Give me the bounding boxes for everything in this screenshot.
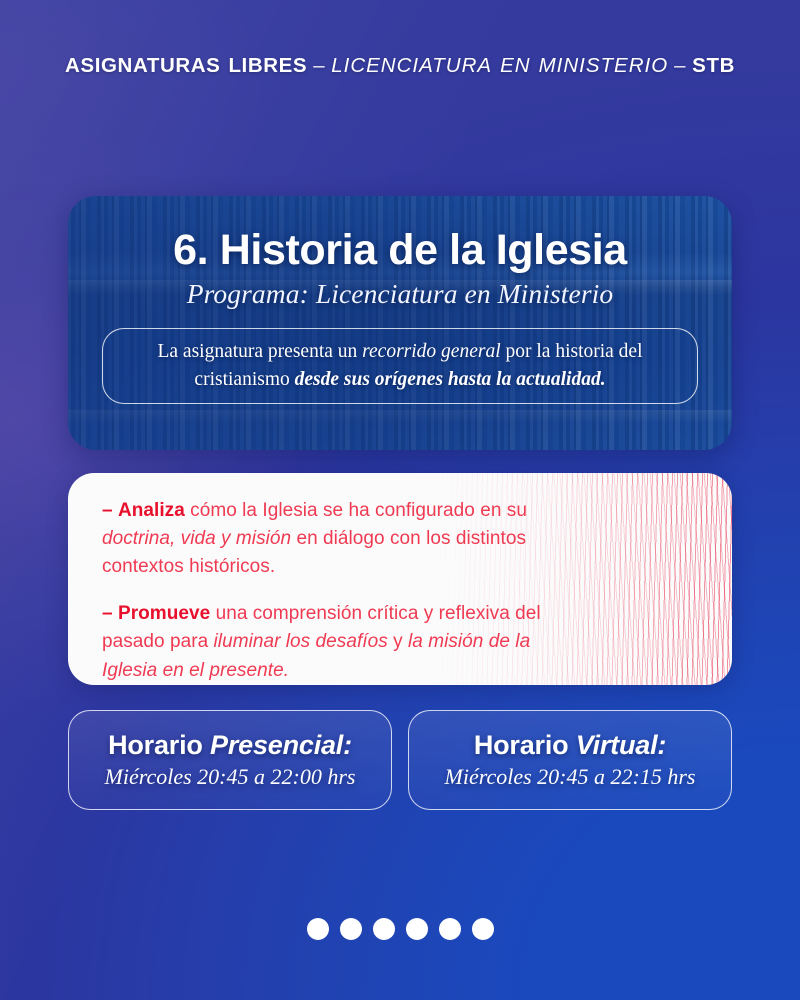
schedule-presencial-time: Miércoles 20:45 a 22:00 hrs: [105, 764, 356, 790]
objective-1-segment-italic: doctrina, vida y misión: [102, 528, 291, 549]
course-program-subtitle: Programa: Licenciatura en Ministerio: [187, 278, 614, 310]
description-segment-1: La asignatura presenta un: [157, 341, 362, 362]
header-separator-2: –: [668, 54, 692, 77]
pagination-dot[interactable]: [472, 918, 494, 940]
pagination-dot[interactable]: [307, 918, 329, 940]
slide-header: ASIGNATURASLIBRES–LICENCIATURAENMINISTER…: [0, 54, 800, 78]
header-part-ministerio: MINISTERIO: [539, 54, 669, 77]
schedule-card-virtual: Horario Virtual: Miércoles 20:45 a 22:15…: [408, 710, 732, 810]
header-separator-1: –: [307, 54, 331, 77]
header-part-libres: LIBRES: [228, 54, 307, 77]
header-part-asignaturas: ASIGNATURAS: [65, 54, 220, 77]
objective-1-segment-1: cómo la Iglesia se ha configurado en su: [185, 500, 527, 521]
objective-item-promueve: – Promueve una comprensión crítica y ref…: [102, 600, 582, 684]
schedule-card-presencial: Horario Presencial: Miércoles 20:45 a 22…: [68, 710, 392, 810]
schedule-presencial-label: Horario: [108, 730, 210, 760]
objective-2-segment-italic-a: iluminar los desafíos: [214, 631, 388, 652]
objective-item-analiza: – Analiza cómo la Iglesia se ha configur…: [102, 497, 582, 581]
course-title: 6. Historia de la Iglesia: [173, 228, 627, 273]
hero-card: 6. Historia de la Iglesia Programa: Lice…: [68, 196, 732, 450]
objective-dash-1: –: [102, 500, 113, 521]
objective-2-segment-3: y: [388, 631, 408, 652]
schedule-row: Horario Presencial: Miércoles 20:45 a 22…: [68, 710, 732, 810]
schedule-virtual-title: Horario Virtual:: [474, 730, 666, 761]
header-part-stb: STB: [692, 54, 735, 77]
objective-keyword-analiza: Analiza: [118, 500, 185, 521]
schedule-virtual-label: Horario: [474, 730, 576, 760]
slide-canvas: ASIGNATURASLIBRES–LICENCIATURAENMINISTER…: [0, 0, 800, 1000]
header-part-licenciatura: LICENCIATURA: [331, 54, 492, 77]
pagination-dot[interactable]: [340, 918, 362, 940]
objective-dash-2: –: [102, 603, 113, 624]
pagination-dot[interactable]: [406, 918, 428, 940]
description-segment-bold-italic: desde sus orígenes hasta la actualidad.: [295, 369, 606, 390]
objectives-card: – Analiza cómo la Iglesia se ha configur…: [68, 473, 732, 685]
pagination-dots[interactable]: [0, 918, 800, 940]
objective-keyword-promueve: Promueve: [118, 603, 210, 624]
header-part-en: EN: [500, 54, 530, 77]
pagination-dot[interactable]: [439, 918, 461, 940]
schedule-virtual-time: Miércoles 20:45 a 22:15 hrs: [445, 764, 696, 790]
hero-content: 6. Historia de la Iglesia Programa: Lice…: [68, 196, 732, 450]
objectives-content: – Analiza cómo la Iglesia se ha configur…: [68, 473, 732, 685]
course-description-text: La asignatura presenta un recorrido gene…: [129, 338, 671, 393]
schedule-virtual-mode: Virtual:: [576, 730, 666, 760]
pagination-dot[interactable]: [373, 918, 395, 940]
schedule-presencial-mode: Presencial:: [210, 730, 352, 760]
course-description-box: La asignatura presenta un recorrido gene…: [102, 328, 698, 404]
description-segment-italic: recorrido general: [362, 341, 500, 362]
schedule-presencial-title: Horario Presencial:: [108, 730, 352, 761]
